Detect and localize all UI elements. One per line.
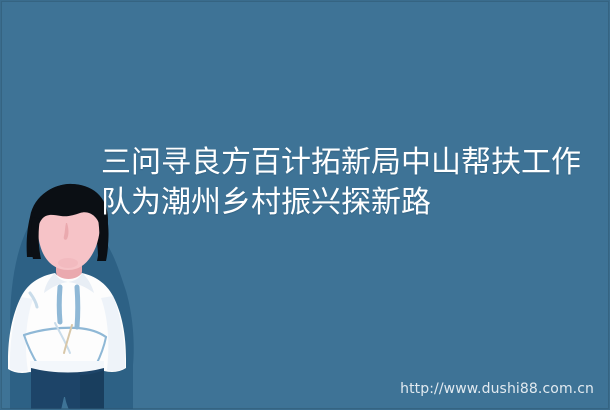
watermark-url: http://www.dushi88.com.cn [400, 381, 594, 397]
pants [31, 368, 104, 410]
image-canvas: 三问寻良方百计拓新局中山帮扶工作队为潮州乡村振兴探新路 http://www.d… [0, 0, 610, 410]
headline-text: 三问寻良方百计拓新局中山帮扶工作队为潮州乡村振兴探新路 [101, 143, 601, 223]
